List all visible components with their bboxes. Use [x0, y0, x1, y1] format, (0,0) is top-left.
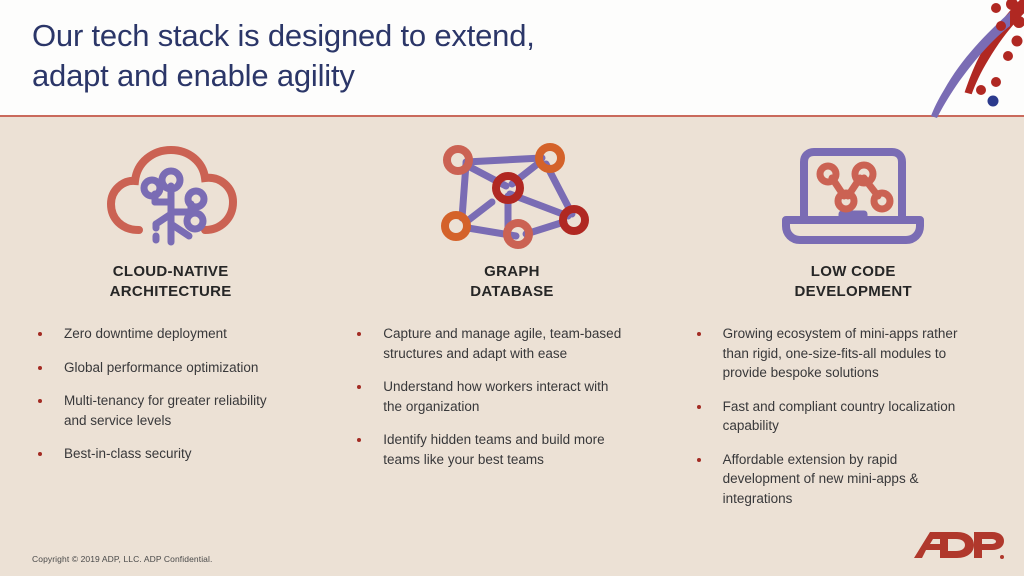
bullet-text: Global performance optimization: [64, 358, 258, 378]
bullet-text: Affordable extension by rapid developmen…: [723, 450, 976, 509]
slide: Our tech stack is designed to extend, ad…: [0, 0, 1024, 576]
bullet-dot-icon: [697, 405, 701, 409]
list-item: Affordable extension by rapid developmen…: [697, 450, 976, 509]
graph-network-icon: [432, 142, 592, 250]
column-cloud-native-architecture: CLOUD-NATIVE ARCHITECTURE Zero downtime …: [0, 140, 341, 522]
list-item: Best-in-class security: [38, 444, 271, 464]
bullet-text: Understand how workers interact with the…: [383, 377, 630, 416]
column-low-code-development: LOW CODE DEVELOPMENT Growing ecosystem o…: [683, 140, 1024, 522]
bullet-dot-icon: [38, 399, 42, 403]
bullet-text: Capture and manage agile, team-based str…: [383, 324, 630, 363]
column-heading: LOW CODE DEVELOPMENT: [795, 262, 912, 302]
bullet-list: Growing ecosystem of mini-apps rather th…: [683, 324, 1024, 522]
bullet-dot-icon: [357, 438, 361, 442]
bullet-dot-icon: [697, 332, 701, 336]
bullet-dot-icon: [697, 458, 701, 462]
list-item: Global performance optimization: [38, 358, 271, 378]
page-title: Our tech stack is designed to extend, ad…: [32, 16, 672, 96]
bullet-list: Capture and manage agile, team-based str…: [341, 324, 682, 483]
bullet-dot-icon: [38, 366, 42, 370]
icon-container: [101, 140, 241, 252]
list-item: Growing ecosystem of mini-apps rather th…: [697, 324, 976, 383]
bullet-text: Multi-tenancy for greater reliability an…: [64, 391, 271, 430]
list-item: Fast and compliant country localization …: [697, 397, 976, 436]
header-divider-rule: [0, 115, 1024, 117]
list-item: Zero downtime deployment: [38, 324, 271, 344]
icon-container: [432, 140, 592, 252]
list-item: Capture and manage agile, team-based str…: [357, 324, 630, 363]
adp-logo: [910, 528, 1006, 562]
list-item: Identify hidden teams and build more tea…: [357, 430, 630, 469]
bullet-text: Fast and compliant country localization …: [723, 397, 976, 436]
bullet-dot-icon: [38, 452, 42, 456]
bullet-text: Best-in-class security: [64, 444, 192, 464]
bullet-text: Zero downtime deployment: [64, 324, 227, 344]
column-heading: GRAPH DATABASE: [470, 262, 554, 302]
bullet-dot-icon: [357, 332, 361, 336]
bullet-text: Identify hidden teams and build more tea…: [383, 430, 630, 469]
copyright-text: Copyright © 2019 ADP, LLC. ADP Confident…: [32, 554, 212, 564]
icon-container: [778, 140, 928, 252]
bullet-text: Growing ecosystem of mini-apps rather th…: [723, 324, 976, 383]
bullet-list: Zero downtime deployment Global performa…: [0, 324, 341, 478]
list-item: Multi-tenancy for greater reliability an…: [38, 391, 271, 430]
bullet-dot-icon: [357, 385, 361, 389]
cloud-circuit-icon: [101, 142, 241, 250]
column-graph-database: GRAPH DATABASE Capture and manage agile,…: [341, 140, 682, 522]
list-item: Understand how workers interact with the…: [357, 377, 630, 416]
column-heading: CLOUD-NATIVE ARCHITECTURE: [110, 262, 232, 302]
bullet-dot-icon: [38, 332, 42, 336]
laptop-network-icon: [778, 144, 928, 248]
feature-columns: CLOUD-NATIVE ARCHITECTURE Zero downtime …: [0, 140, 1024, 522]
